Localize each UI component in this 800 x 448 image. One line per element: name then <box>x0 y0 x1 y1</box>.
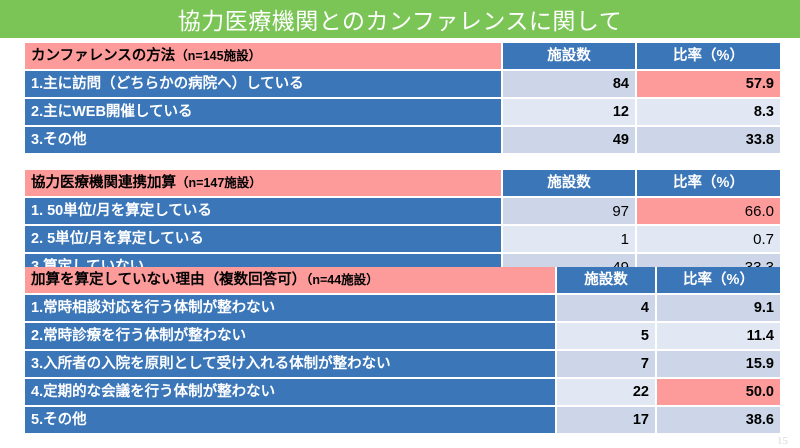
row-count: 7 <box>557 351 657 379</box>
column-header-ratio: 比率（%） <box>637 170 782 198</box>
row-count: 49 <box>503 127 637 155</box>
table-row: 3.その他 49 33.8 <box>25 127 782 155</box>
column-header-ratio: 比率（%） <box>637 43 782 71</box>
table-row: 2. 5単位/月を算定している 1 0.7 <box>25 226 782 254</box>
row-count: 1 <box>503 226 637 254</box>
row-label: 3.その他 <box>25 127 503 155</box>
row-label: 2.主にWEB開催している <box>25 99 503 127</box>
row-ratio: 50.0 <box>657 379 782 407</box>
section-sample-size: （n=145施設） <box>175 49 261 63</box>
table-section-header-row: 協力医療機関連携加算（n=147施設） 施設数 比率（%） <box>25 170 782 198</box>
row-ratio: 15.9 <box>657 351 782 379</box>
table-row: 4.定期的な会議を行う体制が整わない 22 50.0 <box>25 379 782 407</box>
table-row: 1.主に訪問（どちらかの病院へ）している 84 57.9 <box>25 71 782 99</box>
table-row: 1. 50単位/月を算定している 97 66.0 <box>25 198 782 226</box>
table-row: 1.常時相談対応を行う体制が整わない 4 9.1 <box>25 295 782 323</box>
page-title: 協力医療機関とのカンファレンスに関して <box>178 2 622 36</box>
section-title-text: カンファレンスの方法 <box>31 48 175 64</box>
row-count: 5 <box>557 323 657 351</box>
row-ratio: 0.7 <box>637 226 782 254</box>
table-row: 2.主にWEB開催している 12 8.3 <box>25 99 782 127</box>
row-count: 84 <box>503 71 637 99</box>
row-count: 17 <box>557 407 657 435</box>
row-count: 12 <box>503 99 637 127</box>
row-label: 3.入所者の入院を原則として受け入れる体制が整わない <box>25 351 557 379</box>
section-title-cell: 協力医療機関連携加算（n=147施設） <box>25 170 503 198</box>
table-cooperation-addition: 協力医療機関連携加算（n=147施設） 施設数 比率（%） 1. 50単位/月を… <box>25 170 782 282</box>
row-ratio: 33.8 <box>637 127 782 155</box>
row-count: 22 <box>557 379 657 407</box>
table-section-header-row: 加算を算定していない理由（複数回答可）（n=44施設） 施設数 比率（%） <box>25 267 782 295</box>
row-ratio: 11.4 <box>657 323 782 351</box>
column-header-count: 施設数 <box>503 43 637 71</box>
column-header-count: 施設数 <box>503 170 637 198</box>
row-label: 1. 50単位/月を算定している <box>25 198 503 226</box>
table-conference-method: カンファレンスの方法（n=145施設） 施設数 比率（%） 1.主に訪問（どちら… <box>25 43 782 155</box>
section-sample-size: （n=44施設） <box>306 273 379 287</box>
row-ratio: 8.3 <box>637 99 782 127</box>
section-title-text: 協力医療機関連携加算 <box>31 175 176 191</box>
row-ratio: 57.9 <box>637 71 782 99</box>
section-title-cell: カンファレンスの方法（n=145施設） <box>25 43 503 71</box>
row-ratio: 38.6 <box>657 407 782 435</box>
row-count: 4 <box>557 295 657 323</box>
table-section-header-row: カンファレンスの方法（n=145施設） 施設数 比率（%） <box>25 43 782 71</box>
row-label: 1.主に訪問（どちらかの病院へ）している <box>25 71 503 99</box>
table-reasons-not-claimed: 加算を算定していない理由（複数回答可）（n=44施設） 施設数 比率（%） 1.… <box>25 267 782 435</box>
row-label: 5.その他 <box>25 407 557 435</box>
column-header-count: 施設数 <box>557 267 657 295</box>
table-row: 3.入所者の入院を原則として受け入れる体制が整わない 7 15.9 <box>25 351 782 379</box>
row-ratio: 66.0 <box>637 198 782 226</box>
row-label: 1.常時相談対応を行う体制が整わない <box>25 295 557 323</box>
row-label: 2. 5単位/月を算定している <box>25 226 503 254</box>
page-number: 15 <box>777 435 788 447</box>
section-sample-size: （n=147施設） <box>176 176 262 190</box>
row-ratio: 9.1 <box>657 295 782 323</box>
section-title-cell: 加算を算定していない理由（複数回答可）（n=44施設） <box>25 267 557 295</box>
table-row: 5.その他 17 38.6 <box>25 407 782 435</box>
column-header-ratio: 比率（%） <box>657 267 782 295</box>
section-title-text: 加算を算定していない理由（複数回答可） <box>31 272 306 288</box>
slide-title-banner: 協力医療機関とのカンファレンスに関して <box>0 0 800 38</box>
row-label: 2.常時診療を行う体制が整わない <box>25 323 557 351</box>
slide-body: カンファレンスの方法（n=145施設） 施設数 比率（%） 1.主に訪問（どちら… <box>0 38 800 448</box>
table-row: 2.常時診療を行う体制が整わない 5 11.4 <box>25 323 782 351</box>
row-count: 97 <box>503 198 637 226</box>
row-label: 4.定期的な会議を行う体制が整わない <box>25 379 557 407</box>
